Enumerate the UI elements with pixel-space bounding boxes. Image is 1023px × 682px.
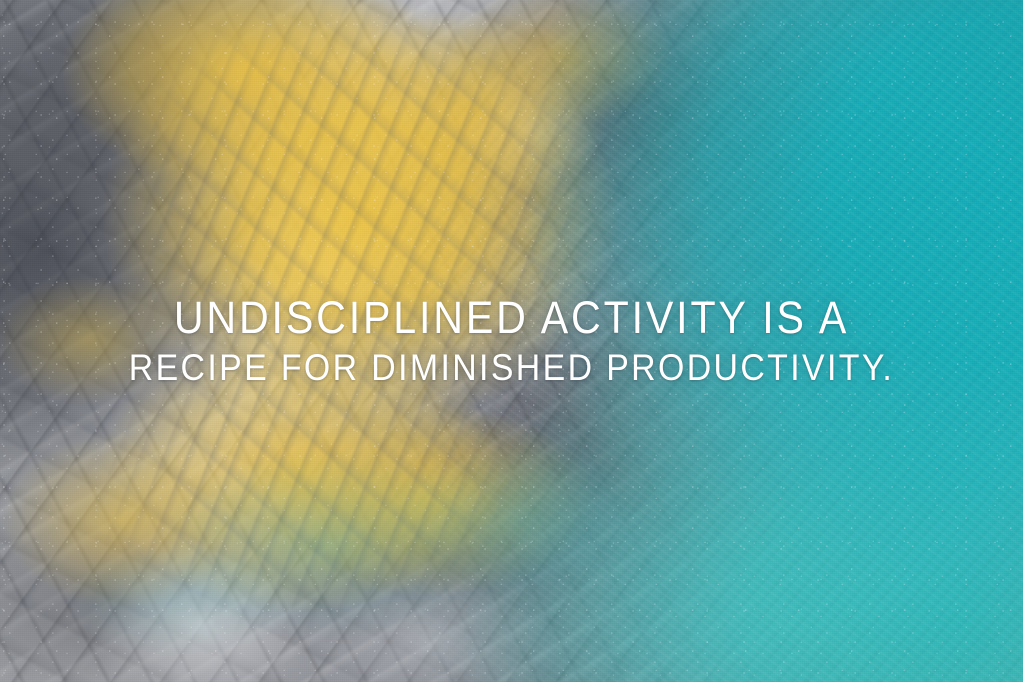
quote-line-2: Recipe for diminished productivity. <box>43 345 979 390</box>
quote-image-canvas: Undisciplined activity is a Recipe for d… <box>0 0 1023 682</box>
quote-line-1: Undisciplined activity is a <box>43 292 979 344</box>
quote-text-block: Undisciplined activity is a Recipe for d… <box>0 292 1023 390</box>
